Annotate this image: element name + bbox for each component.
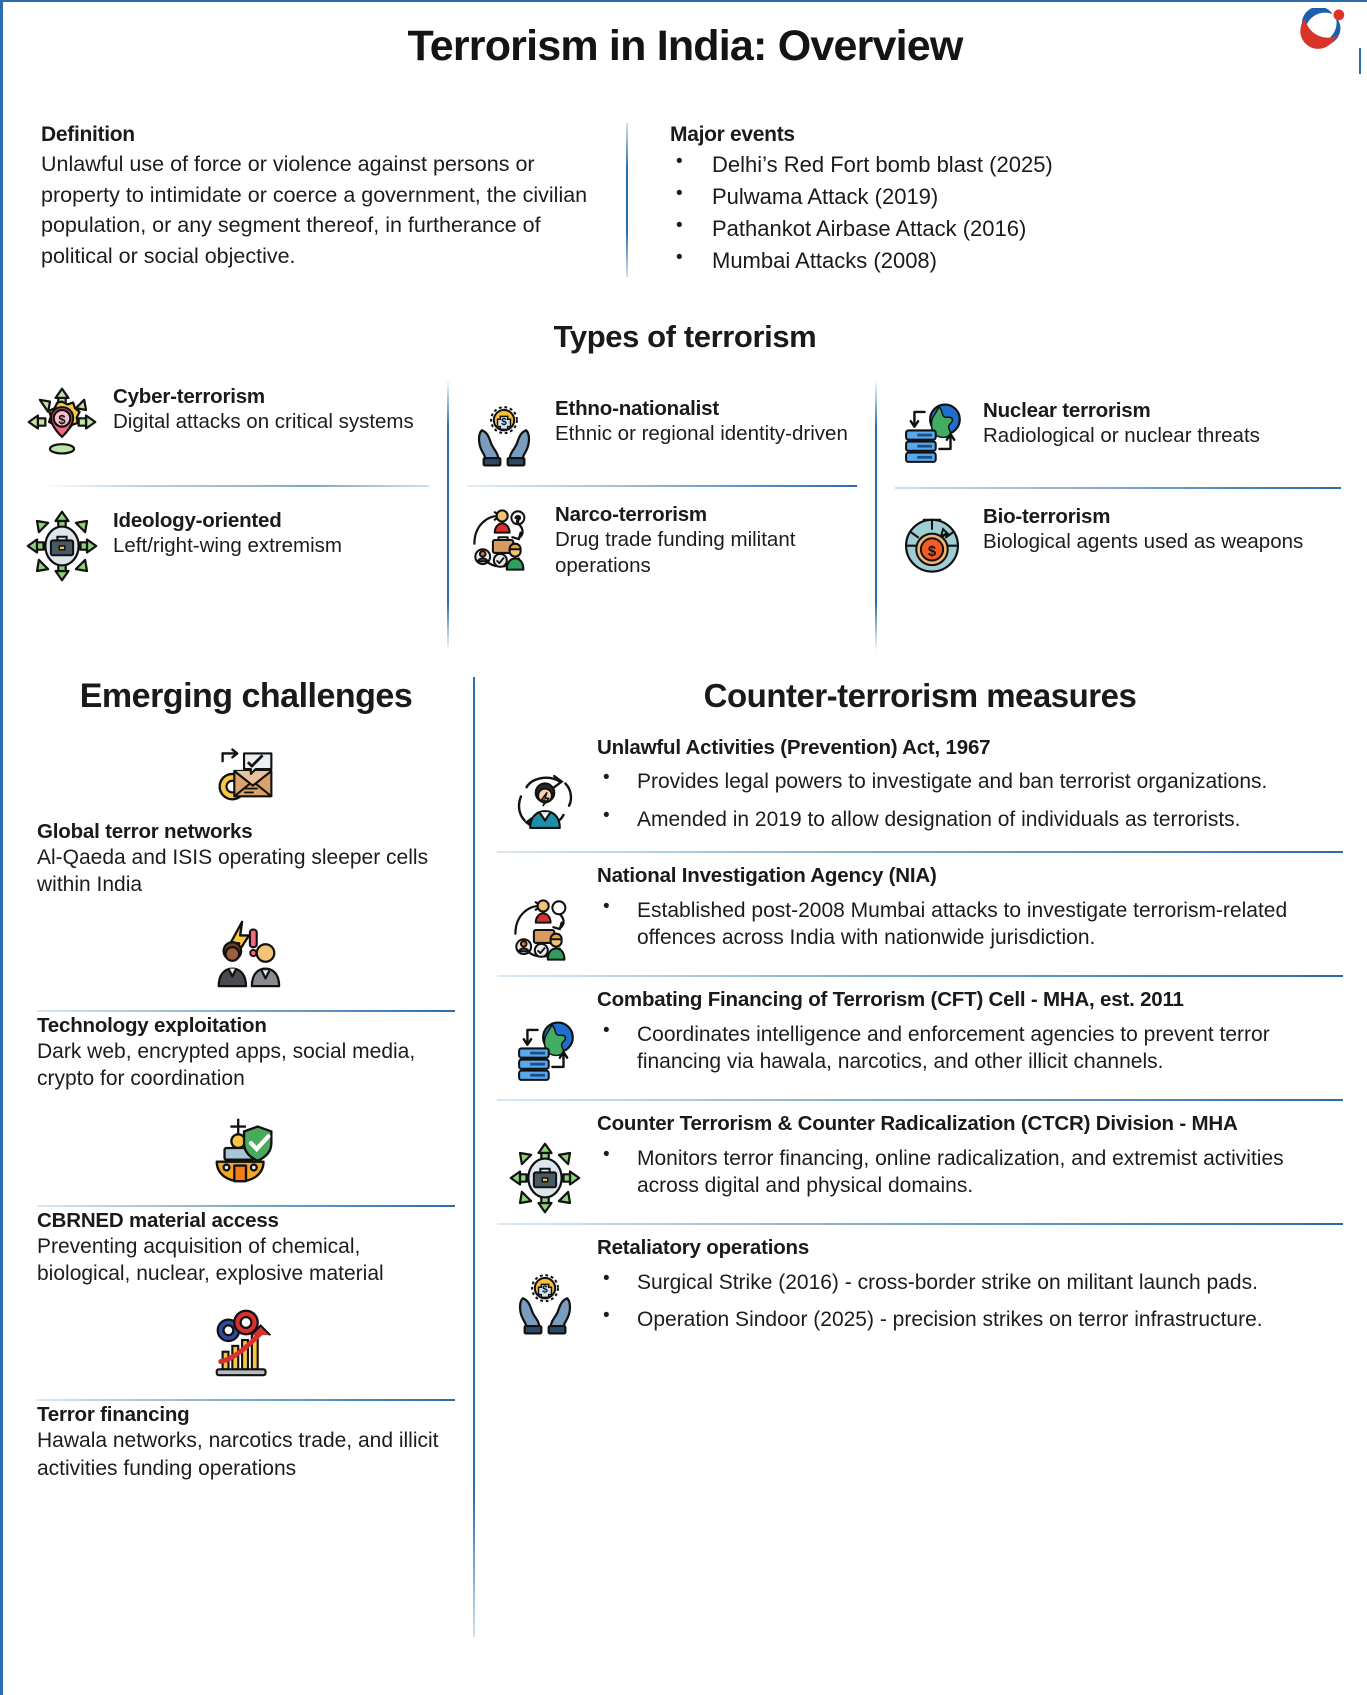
measure-bullets: Coordinates intelligence and enforcement… (597, 1021, 1343, 1076)
horizontal-divider (43, 485, 429, 487)
growth-chart-gears-icon (37, 1303, 455, 1381)
radar-dollar-coin-icon: $ (895, 505, 969, 579)
measure-title: Retaliatory operations (597, 1235, 1343, 1262)
type-narco-terrorism: ? (467, 503, 857, 579)
globe-server-arrows-icon (895, 399, 969, 473)
divider (37, 1010, 455, 1012)
divider (497, 975, 1343, 977)
list-item: Monitors terror financing, online radica… (597, 1145, 1343, 1200)
type-bio-terrorism: $ Bio-terrorism Biological agents used a… (895, 505, 1341, 579)
type-name: Ethno-nationalist (555, 397, 848, 421)
list-item: Surgical Strike (2016) - cross-border st… (597, 1269, 1343, 1297)
person-lightning-cycle-icon (497, 735, 593, 844)
types-grid: $ Cyber-terrorism Digital attacks on cri… (3, 379, 1367, 651)
definition-heading: Definition (41, 123, 606, 147)
lower-section: Emerging challenges (3, 677, 1367, 1637)
hands-holding-coin-icon: $ (467, 397, 541, 471)
divider (497, 1099, 1343, 1101)
types-column-2: $ Ethno-nationalist Ethnic or regional i… (467, 379, 857, 651)
divider (37, 1399, 455, 1401)
svg-text:$: $ (58, 411, 66, 426)
major-events-block: Major events Delhi’s Red Fort bomb blast… (670, 123, 1329, 277)
challenge-cbrned-material-access: CBRNED material access Preventing acquis… (37, 1109, 455, 1288)
counter-measure-retaliatory-operations: $ Retaliatory operations Surgical Strike… (497, 1235, 1343, 1344)
types-column-1: $ Cyber-terrorism Digital attacks on cri… (25, 379, 429, 651)
list-item: Pathankot Airbase Attack (2016) (670, 213, 1329, 245)
challenge-desc: Al-Qaeda and ISIS operating sleeper cell… (37, 844, 455, 899)
types-column-3: Nuclear terrorism Radiological or nuclea… (895, 379, 1341, 651)
horizontal-divider (895, 487, 1341, 489)
purple-swirl-logo (1299, 8, 1345, 48)
type-ideology-oriented: Ideology-oriented Left/right-wing extrem… (25, 509, 429, 583)
types-heading: Types of terrorism (3, 319, 1367, 355)
challenge-name: Technology exploitation (37, 1014, 455, 1038)
envelope-gear-check-icon (37, 732, 455, 810)
challenge-technology-exploitation: Technology exploitation Dark web, encryp… (37, 914, 455, 1093)
list-item: Established post-2008 Mumbai attacks to … (597, 897, 1343, 952)
type-name: Narco-terrorism (555, 503, 857, 527)
people-briefcase-cycle-icon (497, 863, 593, 967)
list-item: Amended in 2019 to allow designation of … (597, 806, 1343, 834)
list-item: Provides legal powers to investigate and… (597, 768, 1343, 796)
type-desc: Digital attacks on critical systems (113, 409, 414, 435)
horizontal-divider (467, 485, 857, 487)
page-title: Terrorism in India: Overview (3, 2, 1367, 71)
hands-holding-coin-icon: $ (497, 1235, 593, 1344)
vertical-divider (875, 379, 877, 651)
major-events-list: Delhi’s Red Fort bomb blast (2025) Pulwa… (670, 149, 1329, 277)
divider (497, 851, 1343, 853)
two-people-lightning-alert-icon (37, 914, 455, 992)
type-desc: Biological agents used as weapons (983, 529, 1303, 555)
counter-heading: Counter-terrorism measures (497, 677, 1343, 715)
logo-divider (1359, 48, 1361, 74)
measure-bullets: Monitors terror financing, online radica… (597, 1145, 1343, 1200)
counter-measure-nia: National Investigation Agency (NIA) Esta… (497, 863, 1343, 967)
counter-measures-panel: Counter-terrorism measures (475, 677, 1367, 1637)
challenge-name: CBRNED material access (37, 1209, 455, 1233)
measure-bullets: Established post-2008 Mumbai attacks to … (597, 897, 1343, 952)
svg-text:$: $ (928, 543, 937, 559)
counter-measure-ctcr-division: Counter Terrorism & Counter Radicalizati… (497, 1111, 1343, 1215)
vertical-divider (447, 379, 449, 651)
list-item: Operation Sindoor (2025) - precision str… (597, 1306, 1343, 1334)
ship-shield-check-icon (37, 1109, 455, 1187)
type-ethno-nationalist: $ Ethno-nationalist Ethnic or regional i… (467, 379, 857, 471)
challenge-desc: Dark web, encrypted apps, social media, … (37, 1038, 455, 1093)
measure-title: Unlawful Activities (Prevention) Act, 19… (597, 735, 1343, 762)
type-name: Ideology-oriented (113, 509, 342, 533)
challenge-terror-financing: Terror financing Hawala networks, narcot… (37, 1303, 455, 1482)
measure-bullets: Provides legal powers to investigate and… (597, 768, 1343, 833)
counter-measure-uapa: Unlawful Activities (Prevention) Act, 19… (497, 735, 1343, 844)
counter-measure-cft-cell: Combating Financing of Terrorism (CFT) C… (497, 987, 1343, 1091)
divider (37, 1205, 455, 1207)
challenge-desc: Preventing acquisition of chemical, biol… (37, 1233, 455, 1288)
svg-text:$: $ (542, 1285, 548, 1296)
type-cyber-terrorism: $ Cyber-terrorism Digital attacks on cri… (25, 379, 429, 459)
type-name: Nuclear terrorism (983, 399, 1260, 423)
gear-pin-dollar-arrows-icon: $ (25, 385, 99, 459)
type-nuclear-terrorism: Nuclear terrorism Radiological or nuclea… (895, 379, 1341, 473)
briefcase-arrows-icon (497, 1111, 593, 1215)
svg-text:?: ? (515, 514, 521, 524)
vertical-divider (626, 123, 628, 277)
challenge-global-terror-networks: Global terror networks Al-Qaeda and ISIS… (37, 732, 455, 899)
challenges-heading: Emerging challenges (37, 677, 455, 716)
top-row: Definition Unlawful use of force or viol… (3, 123, 1367, 277)
definition-text: Unlawful use of force or violence agains… (41, 149, 606, 271)
divider (497, 1223, 1343, 1225)
measure-title: Counter Terrorism & Counter Radicalizati… (597, 1111, 1343, 1138)
globe-server-arrows-icon (497, 987, 593, 1091)
type-desc: Ethnic or regional identity-driven (555, 421, 848, 447)
counter-measures-list: Unlawful Activities (Prevention) Act, 19… (497, 735, 1343, 1344)
svg-text:$: $ (501, 416, 507, 427)
measure-bullets: Surgical Strike (2016) - cross-border st… (597, 1269, 1343, 1334)
measure-title: National Investigation Agency (NIA) (597, 863, 1343, 890)
list-item: Delhi’s Red Fort bomb blast (2025) (670, 149, 1329, 181)
infographic-page: Terrorism in India: Overview Definition … (0, 0, 1367, 1695)
list-item: Coordinates intelligence and enforcement… (597, 1021, 1343, 1076)
list-item: Pulwama Attack (2019) (670, 181, 1329, 213)
type-desc: Left/right-wing extremism (113, 533, 342, 559)
emerging-challenges-panel: Emerging challenges (3, 677, 473, 1637)
type-desc: Radiological or nuclear threats (983, 423, 1260, 449)
type-name: Cyber-terrorism (113, 385, 414, 409)
challenge-name: Terror financing (37, 1403, 455, 1427)
briefcase-arrows-icon (25, 509, 99, 583)
challenge-name: Global terror networks (37, 820, 455, 844)
challenge-desc: Hawala networks, narcotics trade, and il… (37, 1427, 455, 1482)
people-briefcase-cycle-icon: ? (467, 503, 541, 577)
measure-title: Combating Financing of Terrorism (CFT) C… (597, 987, 1343, 1014)
type-desc: Drug trade funding militant operations (555, 527, 857, 579)
list-item: Mumbai Attacks (2008) (670, 245, 1329, 277)
major-events-heading: Major events (670, 123, 1329, 147)
definition-block: Definition Unlawful use of force or viol… (41, 123, 626, 277)
type-name: Bio-terrorism (983, 505, 1303, 529)
